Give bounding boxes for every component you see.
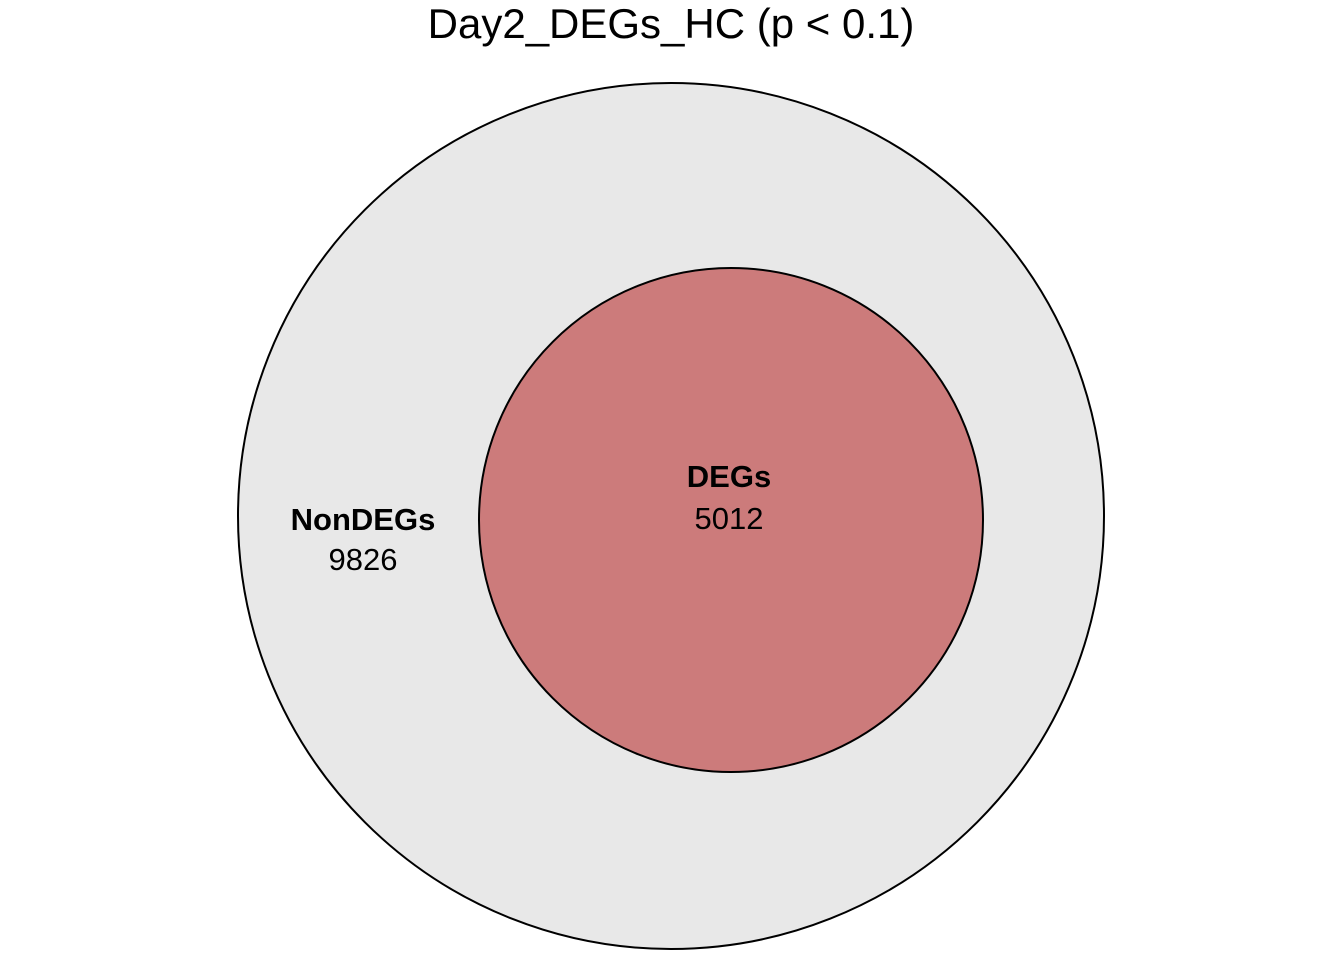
inner-set-label: DEGs: [687, 459, 771, 494]
venn-diagram-canvas: Day2_DEGs_HC (p < 0.1) NonDEGs 9826 DEGs…: [0, 0, 1344, 960]
outer-set-count: 9826: [329, 542, 398, 577]
page-title: Day2_DEGs_HC (p < 0.1): [428, 0, 915, 47]
inner-set-count: 5012: [695, 501, 764, 536]
outer-set-label: NonDEGs: [291, 502, 436, 537]
venn-plot-svg: Day2_DEGs_HC (p < 0.1) NonDEGs 9826 DEGs…: [0, 0, 1344, 960]
